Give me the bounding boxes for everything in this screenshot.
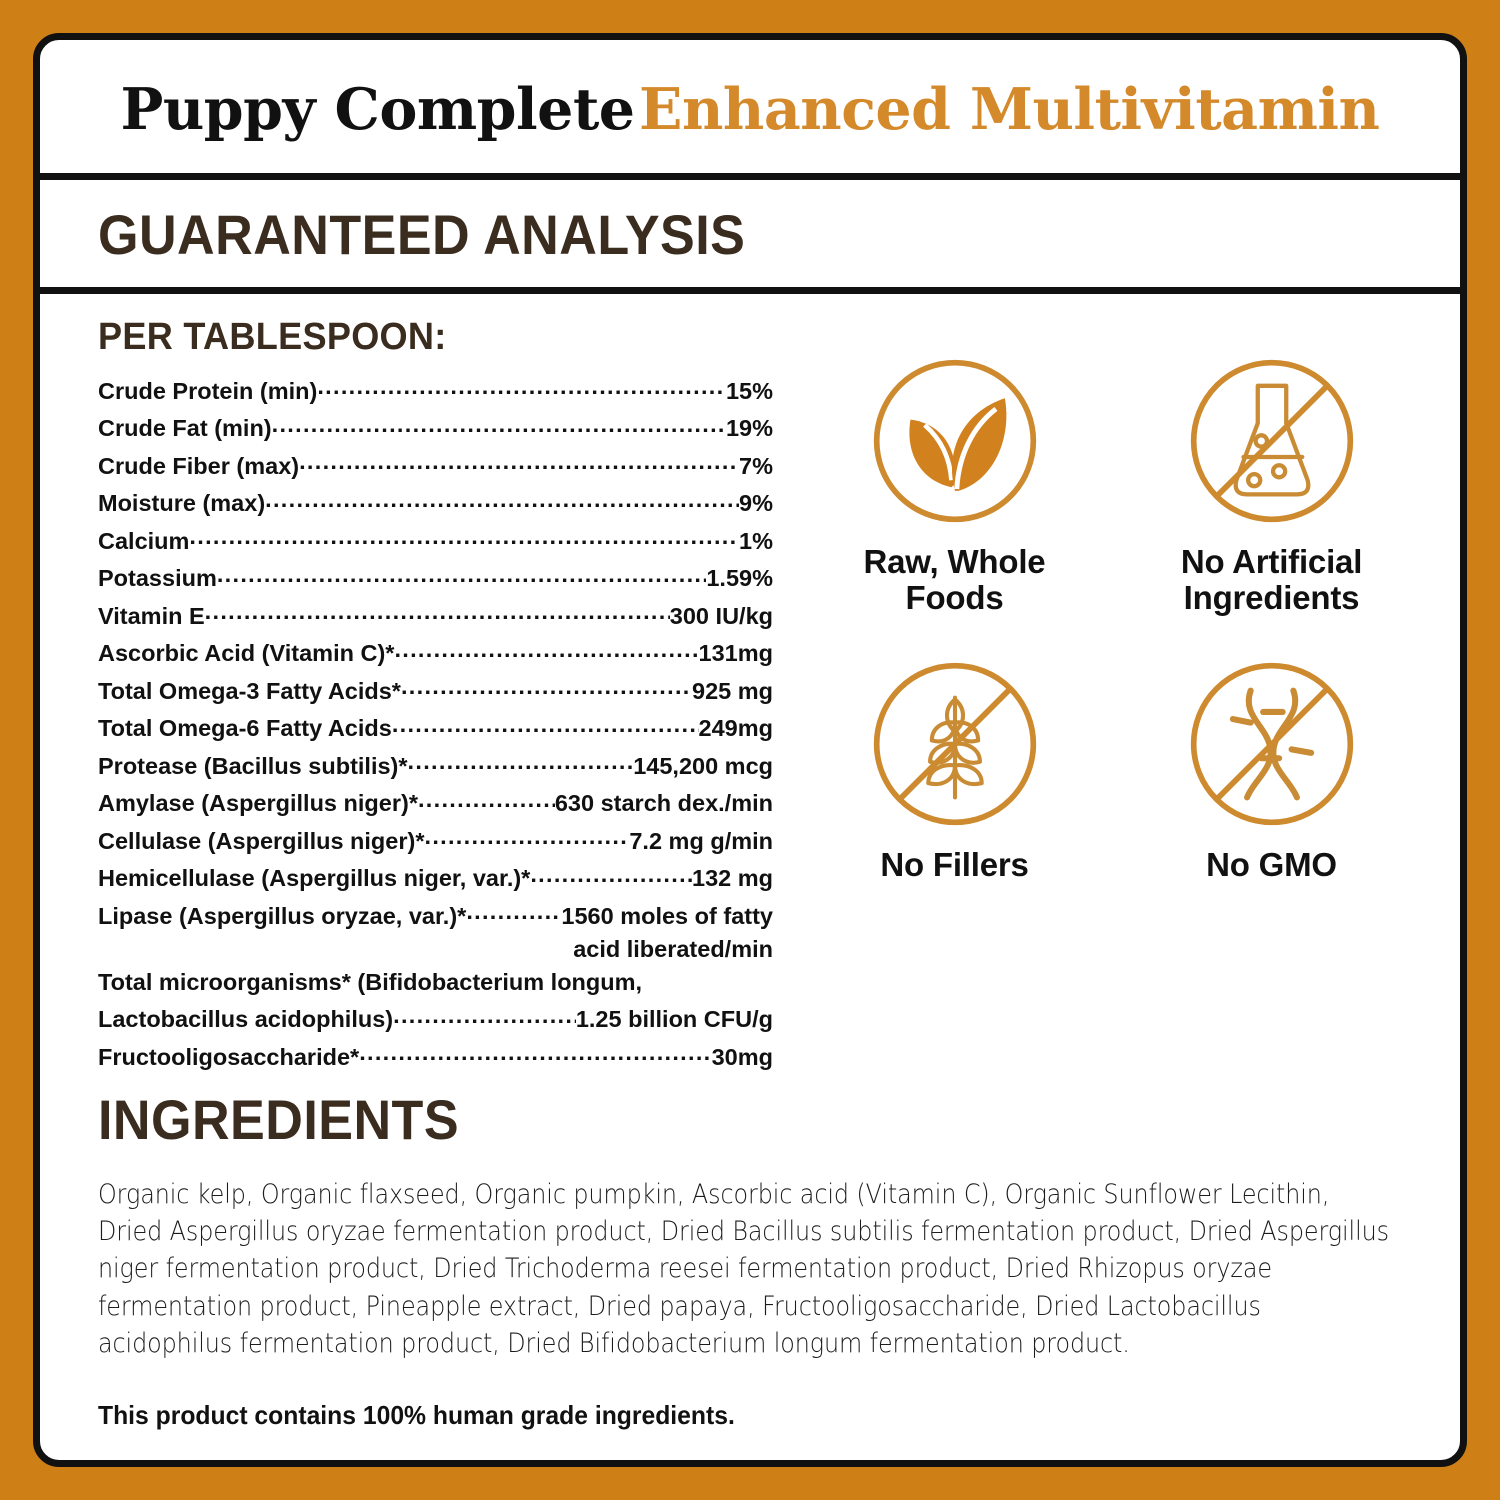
analysis-row: Potassium1.59%	[98, 563, 773, 591]
analysis-row-name: Potassium	[98, 567, 217, 591]
analysis-row: Calcium1%	[98, 525, 773, 553]
analysis-row-name: Ascorbic Acid (Vitamin C)*	[98, 642, 394, 666]
analysis-row-name: Total Omega-3 Fatty Acids*	[98, 680, 401, 704]
badge-label: No ArtificialIngredients	[1123, 544, 1420, 617]
supplement-label-card: Puppy Complete Enhanced Multivitamin GUA…	[33, 33, 1467, 1467]
analysis-row-continuation: acid liberated/min	[98, 938, 773, 962]
title-accent: Enhanced Multivitamin	[639, 76, 1380, 143]
divider-bottom	[40, 287, 1460, 294]
analysis-row-name: Vitamin E	[98, 605, 205, 629]
dot-leader	[466, 900, 561, 924]
analysis-row-value: 30mg	[712, 1046, 773, 1070]
analysis-row: Cellulase (Aspergillus niger)*7.2 mg g/m…	[98, 825, 773, 853]
dot-leader	[530, 863, 692, 887]
analysis-row-value: 1.59%	[706, 567, 773, 591]
leaves-icon	[866, 352, 1044, 530]
analysis-row: Crude Fiber (max)7%	[98, 450, 773, 478]
ingredients-body: Organic kelp, Organic flaxseed, Organic …	[98, 1176, 1401, 1363]
analysis-row-value: 300 IU/kg	[670, 605, 773, 629]
ingredients-heading: INGREDIENTS	[98, 1087, 1311, 1152]
analysis-row: Crude Fat (min)19%	[98, 413, 773, 441]
dot-leader	[265, 488, 739, 512]
dot-leader	[359, 1041, 711, 1065]
per-tablespoon-heading: PER TABLESPOON:	[98, 316, 748, 359]
dot-leader	[189, 525, 739, 549]
analysis-row-value: 132 mg	[692, 867, 773, 891]
dot-leader	[299, 450, 739, 474]
analysis-row-name: Total Omega-6 Fatty Acids	[98, 717, 392, 741]
analysis-row-name: Lipase (Aspergillus oryzae, var.)*	[98, 905, 466, 929]
analysis-row-value: 7%	[739, 455, 773, 479]
badges-column: Raw, WholeFoods	[782, 316, 1460, 1079]
analysis-row-name: Protease (Bacillus subtilis)*	[98, 755, 408, 779]
analysis-row: Ascorbic Acid (Vitamin C)*131mg	[98, 638, 773, 666]
analysis-row-value: 19%	[726, 417, 773, 441]
title-primary: Puppy Complete	[121, 76, 635, 143]
analysis-row-name: Hemicellulase (Aspergillus niger, var.)*	[98, 867, 530, 891]
dot-leader	[418, 788, 555, 812]
analysis-row-name: Crude Fiber (max)	[98, 455, 299, 479]
badge-label: Raw, WholeFoods	[806, 544, 1103, 617]
no-wheat-icon	[866, 655, 1044, 833]
guaranteed-analysis-heading: GUARANTEED ANALYSIS	[98, 202, 1365, 267]
analysis-row: Vitamin E300 IU/kg	[98, 600, 773, 628]
analysis-list: Crude Protein (min)15%Crude Fat (min)19%…	[98, 375, 782, 1069]
analysis-row: Fructooligosaccharide*30mg	[98, 1041, 773, 1069]
badge-no-artificial-ingredients: No ArtificialIngredients	[1123, 352, 1420, 617]
dot-leader	[394, 638, 698, 662]
analysis-row-value: 925 mg	[692, 680, 773, 704]
analysis-row-value: 145,200 mcg	[633, 755, 773, 779]
analysis-row: Lipase (Aspergillus oryzae, var.)*1560 m…	[98, 900, 773, 928]
analysis-row-name: Moisture (max)	[98, 492, 265, 516]
analysis-row: Crude Protein (min)15%	[98, 375, 773, 403]
badge-no-gmo: No GMO	[1123, 655, 1420, 883]
analysis-row-text: Total microorganisms* (Bifidobacterium l…	[98, 971, 773, 995]
analysis-row-name: Fructooligosaccharide*	[98, 1046, 359, 1070]
analysis-row: Moisture (max)9%	[98, 488, 773, 516]
analysis-row-value: 7.2 mg g/min	[629, 830, 773, 854]
analysis-row-value: 249mg	[699, 717, 773, 741]
dot-leader	[217, 563, 707, 587]
dot-leader	[272, 413, 726, 437]
dot-leader	[205, 600, 670, 624]
analysis-row: Lactobacillus acidophilus)1.25 billion C…	[98, 1004, 773, 1032]
analysis-row-value: 1560 moles of fatty	[561, 905, 773, 929]
analysis-row-value: 9%	[739, 492, 773, 516]
no-dna-icon	[1183, 655, 1361, 833]
badge-no-fillers: No Fillers	[806, 655, 1103, 883]
analysis-row-name: Crude Protein (min)	[98, 380, 317, 404]
dot-leader	[401, 675, 692, 699]
dot-leader	[317, 375, 726, 399]
no-flask-icon	[1183, 352, 1361, 530]
analysis-row-value: 15%	[726, 380, 773, 404]
analysis-row-value: 1%	[739, 530, 773, 554]
analysis-row: Total Omega-3 Fatty Acids*925 mg	[98, 675, 773, 703]
human-grade-note: This product contains 100% human grade i…	[98, 1400, 1337, 1431]
analysis-row-name: Calcium	[98, 530, 189, 554]
analysis-row-value: 131mg	[699, 642, 773, 666]
dot-leader	[408, 750, 634, 774]
analysis-row-name: Crude Fat (min)	[98, 417, 272, 441]
badge-label: No GMO	[1123, 847, 1420, 883]
analysis-row-name: Lactobacillus acidophilus)	[98, 1008, 393, 1032]
analysis-row-name: Amylase (Aspergillus niger)*	[98, 792, 418, 816]
product-title: Puppy Complete Enhanced Multivitamin	[40, 40, 1460, 173]
analysis-row: Hemicellulase (Aspergillus niger, var.)*…	[98, 863, 773, 891]
analysis-row-value: 1.25 billion CFU/g	[576, 1008, 773, 1032]
analysis-row: Total Omega-6 Fatty Acids249mg	[98, 713, 773, 741]
badge-label: No Fillers	[806, 847, 1103, 883]
ingredients-section: INGREDIENTS Organic kelp, Organic flaxse…	[40, 1079, 1460, 1432]
badge-raw-whole-foods: Raw, WholeFoods	[806, 352, 1103, 617]
dot-leader	[424, 825, 629, 849]
analysis-row-name: Cellulase (Aspergillus niger)*	[98, 830, 424, 854]
dot-leader	[393, 1004, 576, 1028]
analysis-row-value: 630 starch dex./min	[555, 792, 773, 816]
divider-top	[40, 173, 1460, 180]
analysis-row: Protease (Bacillus subtilis)*145,200 mcg	[98, 750, 773, 778]
badge-grid: Raw, WholeFoods	[806, 352, 1420, 883]
guaranteed-analysis-band: GUARANTEED ANALYSIS	[40, 180, 1460, 287]
analysis-column: PER TABLESPOON: Crude Protein (min)15%Cr…	[40, 316, 782, 1079]
main-content: PER TABLESPOON: Crude Protein (min)15%Cr…	[40, 294, 1460, 1079]
dot-leader	[392, 713, 699, 737]
analysis-row: Amylase (Aspergillus niger)*630 starch d…	[98, 788, 773, 816]
